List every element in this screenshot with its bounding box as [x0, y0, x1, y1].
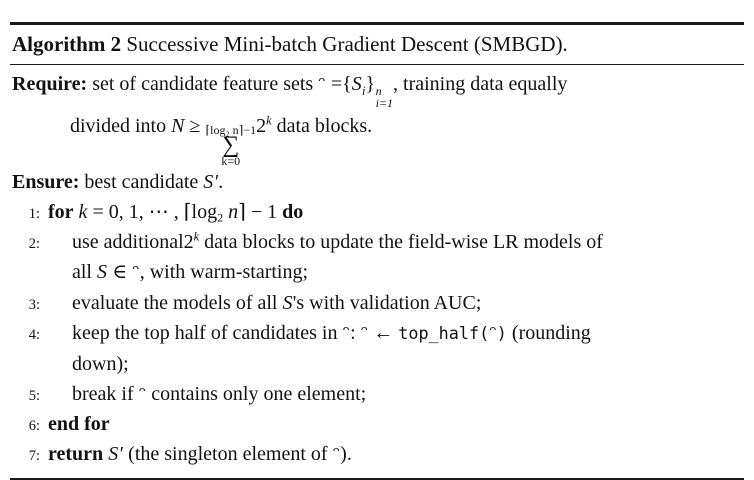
variable-N: N: [171, 115, 184, 137]
script-lower-i1: i=1: [376, 97, 393, 109]
ensure-text: best candidate: [84, 171, 198, 193]
function-name-top-half: top_half: [398, 323, 479, 343]
line-number-1: 1:: [10, 198, 40, 228]
geq-sign: ≥: [189, 115, 200, 137]
set-symbol-S-4a: ᵔ: [342, 323, 350, 344]
cal-S-member: S: [97, 261, 107, 283]
variable-n: n: [228, 201, 238, 223]
element-of-sign: ∈: [112, 261, 127, 283]
cal-S-prime-return: S′: [108, 443, 123, 465]
require-cont-part2: data blocks.: [277, 115, 373, 137]
step-2-text-b: data blocks to update the field-wise LR …: [204, 231, 603, 253]
sum-lower-limit: k=0: [221, 155, 240, 167]
brace-close: }: [365, 73, 375, 95]
step-7-content: return S′ (the singleton element of ᵔ).: [48, 440, 744, 469]
algorithm-title-text: Successive Mini-batch Gradient Descent (…: [126, 32, 567, 56]
summation-operator: ⌈log₂ n⌉−1∑k=0: [205, 124, 256, 168]
line-number-3: 3:: [10, 289, 40, 319]
step-4-colon: :: [350, 322, 356, 344]
summand-base: 2: [256, 115, 266, 137]
step-4-content: keep the top half of candidates in ᵔ: ᵔ …: [48, 319, 744, 380]
require-continuation: divided into N ≥ ⌈log₂ n⌉−1∑k=02k data b…: [12, 110, 744, 168]
step-4-text-a: keep the top half of candidates in: [72, 322, 337, 344]
sigma-glyph: ∑: [222, 135, 239, 157]
step-2-text-c: all: [72, 261, 92, 283]
ensure-line: Ensure: best candidate S′.: [10, 167, 744, 198]
cal-S-eval: S: [282, 292, 292, 314]
line-number-5: 5:: [10, 380, 40, 410]
keyword-end-for: end for: [48, 413, 110, 435]
brace-open: {: [342, 73, 352, 95]
set-symbol-S-5: ᵔ: [139, 384, 147, 405]
step-5-text-b: contains only one element;: [151, 383, 366, 405]
step-2-text-d: , with warm-starting;: [140, 261, 308, 283]
step-line-3: 3: evaluate the models of all S's with v…: [10, 289, 744, 319]
keyword-do: do: [282, 201, 303, 223]
require-cont-part1: divided into: [70, 115, 166, 137]
top-half-call: top_half(ᵔ): [398, 322, 507, 344]
step-1-content: for k = 0, 1, ⋯ , ⌈log2 n⌉ − 1 do: [48, 198, 744, 226]
line-number-7: 7:: [10, 440, 40, 470]
line-number-4: 4:: [10, 319, 40, 349]
line-number-2: 2:: [10, 228, 40, 258]
keyword-return: return: [48, 443, 103, 465]
step-3-content: evaluate the models of all S's with vali…: [48, 289, 744, 317]
algorithm-number: 2: [111, 32, 122, 56]
algorithm-keyword: Algorithm: [12, 32, 105, 56]
cal-S-prime: S′: [203, 171, 218, 193]
step-4-text-c: down);: [72, 348, 744, 380]
set-index-scripts: ni=1: [375, 85, 393, 109]
step-5-content: break if ᵔ contains only one element;: [48, 380, 744, 409]
paren-close: ): [497, 323, 507, 343]
step-7-text-b: ).: [340, 443, 352, 465]
require-text-part1: set of candidate feature sets: [92, 73, 313, 95]
ensure-label: Ensure:: [12, 171, 79, 193]
set-symbol-S-2: ᵔ: [132, 262, 140, 283]
step-2-continuation: all S ∈ ᵔ, with warm-starting;: [72, 256, 744, 289]
step-3-text-a: evaluate the models of all: [72, 292, 277, 314]
step-7-text-a: (the singleton element of: [128, 443, 327, 465]
step-line-5: 5: break if ᵔ contains only one element;: [10, 380, 744, 410]
paren-open: (: [479, 323, 489, 343]
ensure-period: .: [218, 171, 223, 193]
step-line-1: 1: for k = 0, 1, ⋯ , ⌈log2 n⌉ − 1 do: [10, 198, 744, 228]
step-6-content: end for: [48, 410, 744, 438]
step-2-base: 2: [184, 231, 194, 253]
set-builder: {Si}ni=1: [342, 73, 393, 95]
loop-variable-k: k: [79, 201, 88, 223]
set-symbol-S-4b: ᵔ: [361, 323, 369, 344]
set-symbol-S-4c: ᵔ: [489, 323, 497, 344]
require-label: Require:: [12, 73, 87, 95]
cal-S: S: [352, 73, 362, 95]
step-line-4: 4: keep the top half of candidates in ᵔ:…: [10, 319, 744, 380]
step-5-text-a: break if: [72, 383, 134, 405]
equals-sign: =: [331, 73, 342, 95]
algorithm-block: Algorithm 2 Successive Mini-batch Gradie…: [10, 22, 744, 480]
keyword-for: for: [48, 201, 74, 223]
set-symbol-S: ᵔ: [318, 74, 326, 95]
log-base-2: 2: [217, 211, 223, 225]
assign-arrow: ←: [373, 322, 393, 344]
step-2-content: use additional2k data blocks to update t…: [48, 228, 744, 289]
loop-range-tail: ⌉ − 1: [238, 201, 277, 223]
loop-range-text: = 0, 1, ⋯ , ⌈log: [92, 201, 217, 223]
algorithm-body: Require: set of candidate feature sets ᵔ…: [10, 65, 744, 470]
require-text-part2: , training data equally: [393, 73, 567, 95]
step-line-7: 7: return S′ (the singleton element of ᵔ…: [10, 440, 744, 470]
summand: 2k: [256, 115, 272, 137]
two-pow-k: 2k: [184, 231, 200, 253]
require-line: Require: set of candidate feature sets ᵔ…: [10, 70, 744, 167]
step-line-2: 2: use additional2k data blocks to updat…: [10, 228, 744, 289]
step-3-text-b: 's with validation AUC;: [293, 292, 482, 314]
step-line-6: 6: end for: [10, 410, 744, 440]
algorithm-title: Algorithm 2 Successive Mini-batch Gradie…: [10, 25, 744, 60]
step-2-text-a: use additional: [72, 231, 184, 253]
summand-exponent: k: [266, 113, 272, 127]
step-4-text-b: (rounding: [512, 322, 591, 344]
step-2-exponent: k: [194, 230, 200, 244]
line-number-6: 6:: [10, 410, 40, 440]
